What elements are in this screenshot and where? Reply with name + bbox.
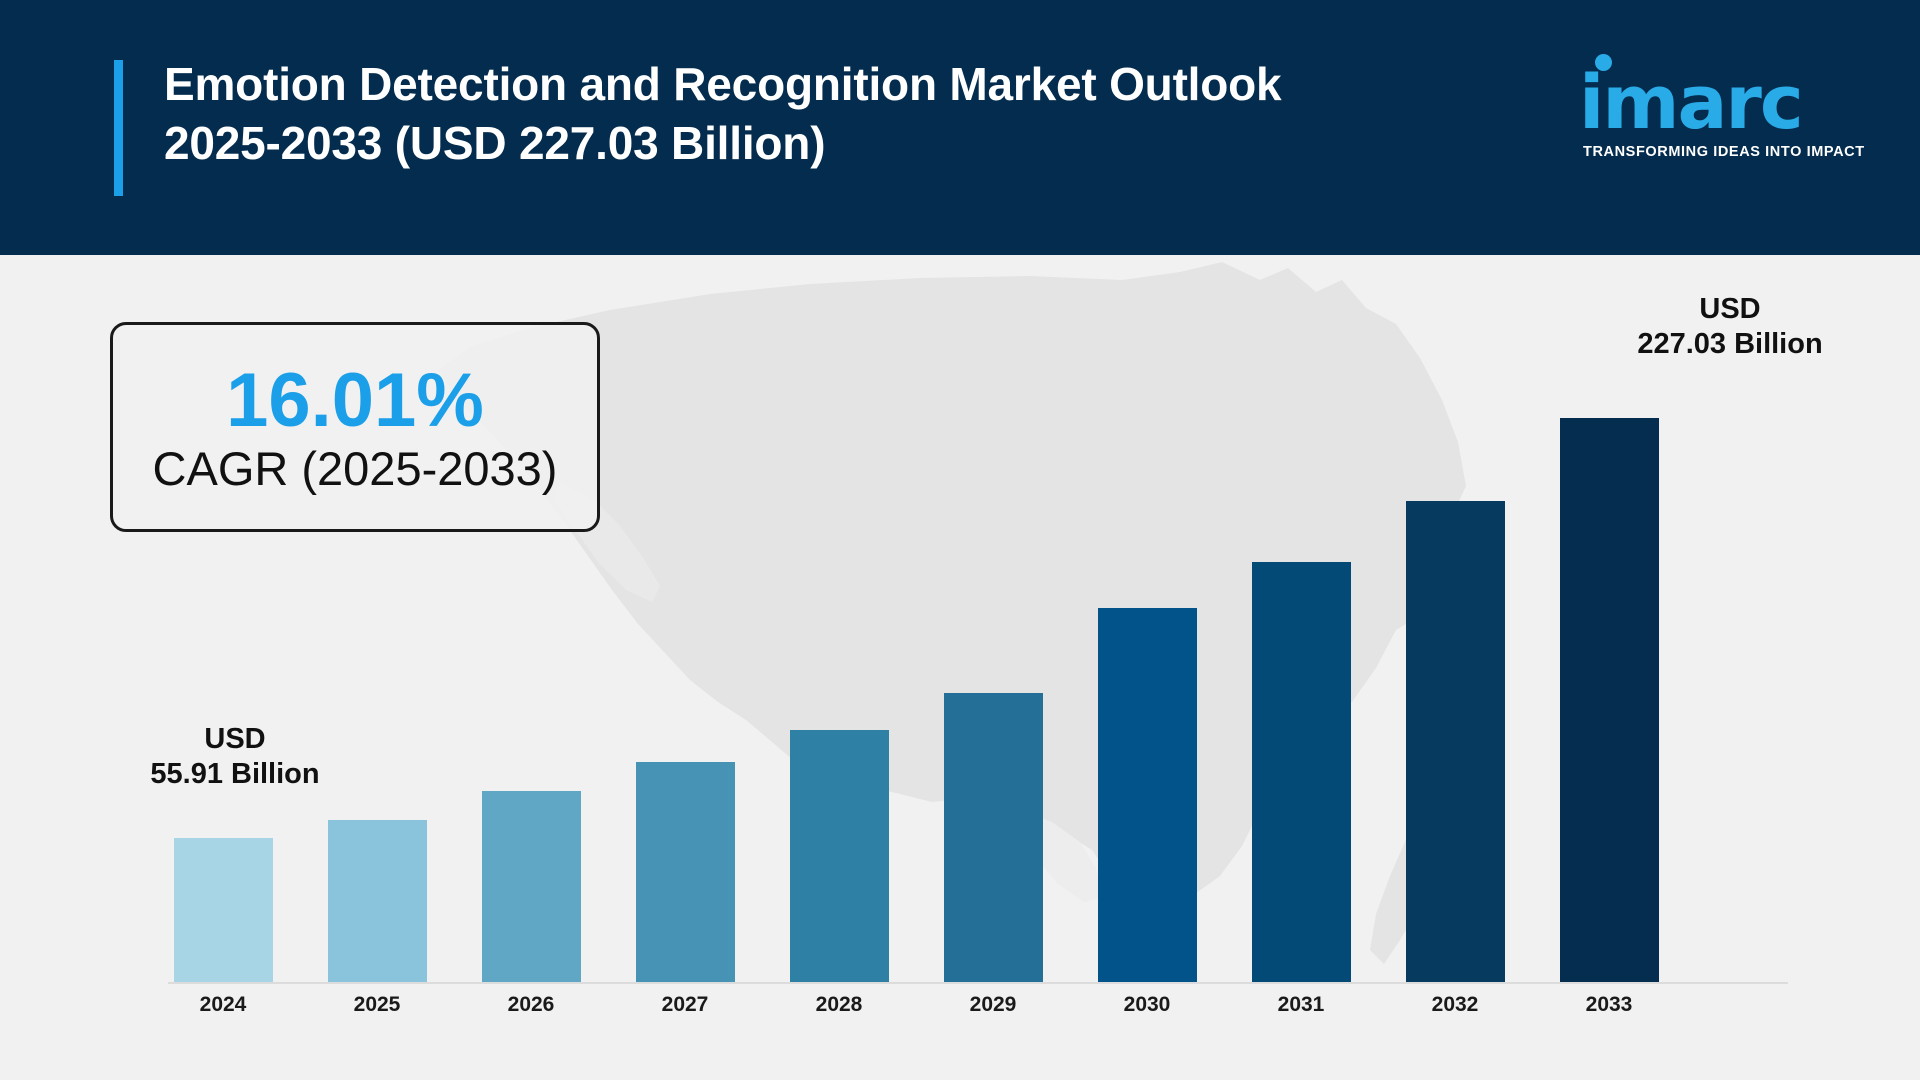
cagr-value: 16.01%	[226, 363, 484, 439]
bar-2031[interactable]	[1252, 562, 1351, 982]
end-value-currency: USD	[1600, 292, 1860, 327]
infographic-root: Emotion Detection and Recognition Market…	[0, 0, 1920, 1080]
cagr-callout-box: 16.01% CAGR (2025-2033)	[110, 322, 600, 532]
bar-2024[interactable]	[174, 838, 273, 982]
cagr-label: CAGR (2025-2033)	[153, 445, 558, 492]
bar-2028[interactable]	[790, 730, 889, 982]
x-tick-label-2024: 2024	[153, 993, 293, 1017]
bar-2029[interactable]	[944, 693, 1043, 982]
x-tick-label-2026: 2026	[461, 993, 601, 1017]
bar-2033[interactable]	[1560, 418, 1659, 982]
x-axis-line	[168, 982, 1788, 984]
bar-2025[interactable]	[328, 820, 427, 982]
bar-2027[interactable]	[636, 762, 735, 982]
bar-2032[interactable]	[1406, 501, 1505, 982]
start-value-amount: 55.91 Billion	[120, 757, 350, 792]
end-value-amount: 227.03 Billion	[1600, 327, 1860, 362]
x-tick-label-2033: 2033	[1539, 993, 1679, 1017]
x-tick-label-2032: 2032	[1385, 993, 1525, 1017]
bar-chart: 2024 2025 2026 2027 2028 2029 2030 2031 …	[0, 0, 1920, 1080]
start-value-currency: USD	[120, 722, 350, 757]
bar-2030[interactable]	[1098, 608, 1197, 982]
x-tick-label-2028: 2028	[769, 993, 909, 1017]
x-tick-label-2027: 2027	[615, 993, 755, 1017]
end-value-callout: USD 227.03 Billion	[1600, 292, 1860, 363]
x-tick-label-2030: 2030	[1077, 993, 1217, 1017]
bar-2026[interactable]	[482, 791, 581, 982]
start-value-callout: USD 55.91 Billion	[120, 722, 350, 793]
x-tick-label-2025: 2025	[307, 993, 447, 1017]
x-tick-label-2029: 2029	[923, 993, 1063, 1017]
x-tick-label-2031: 2031	[1231, 993, 1371, 1017]
